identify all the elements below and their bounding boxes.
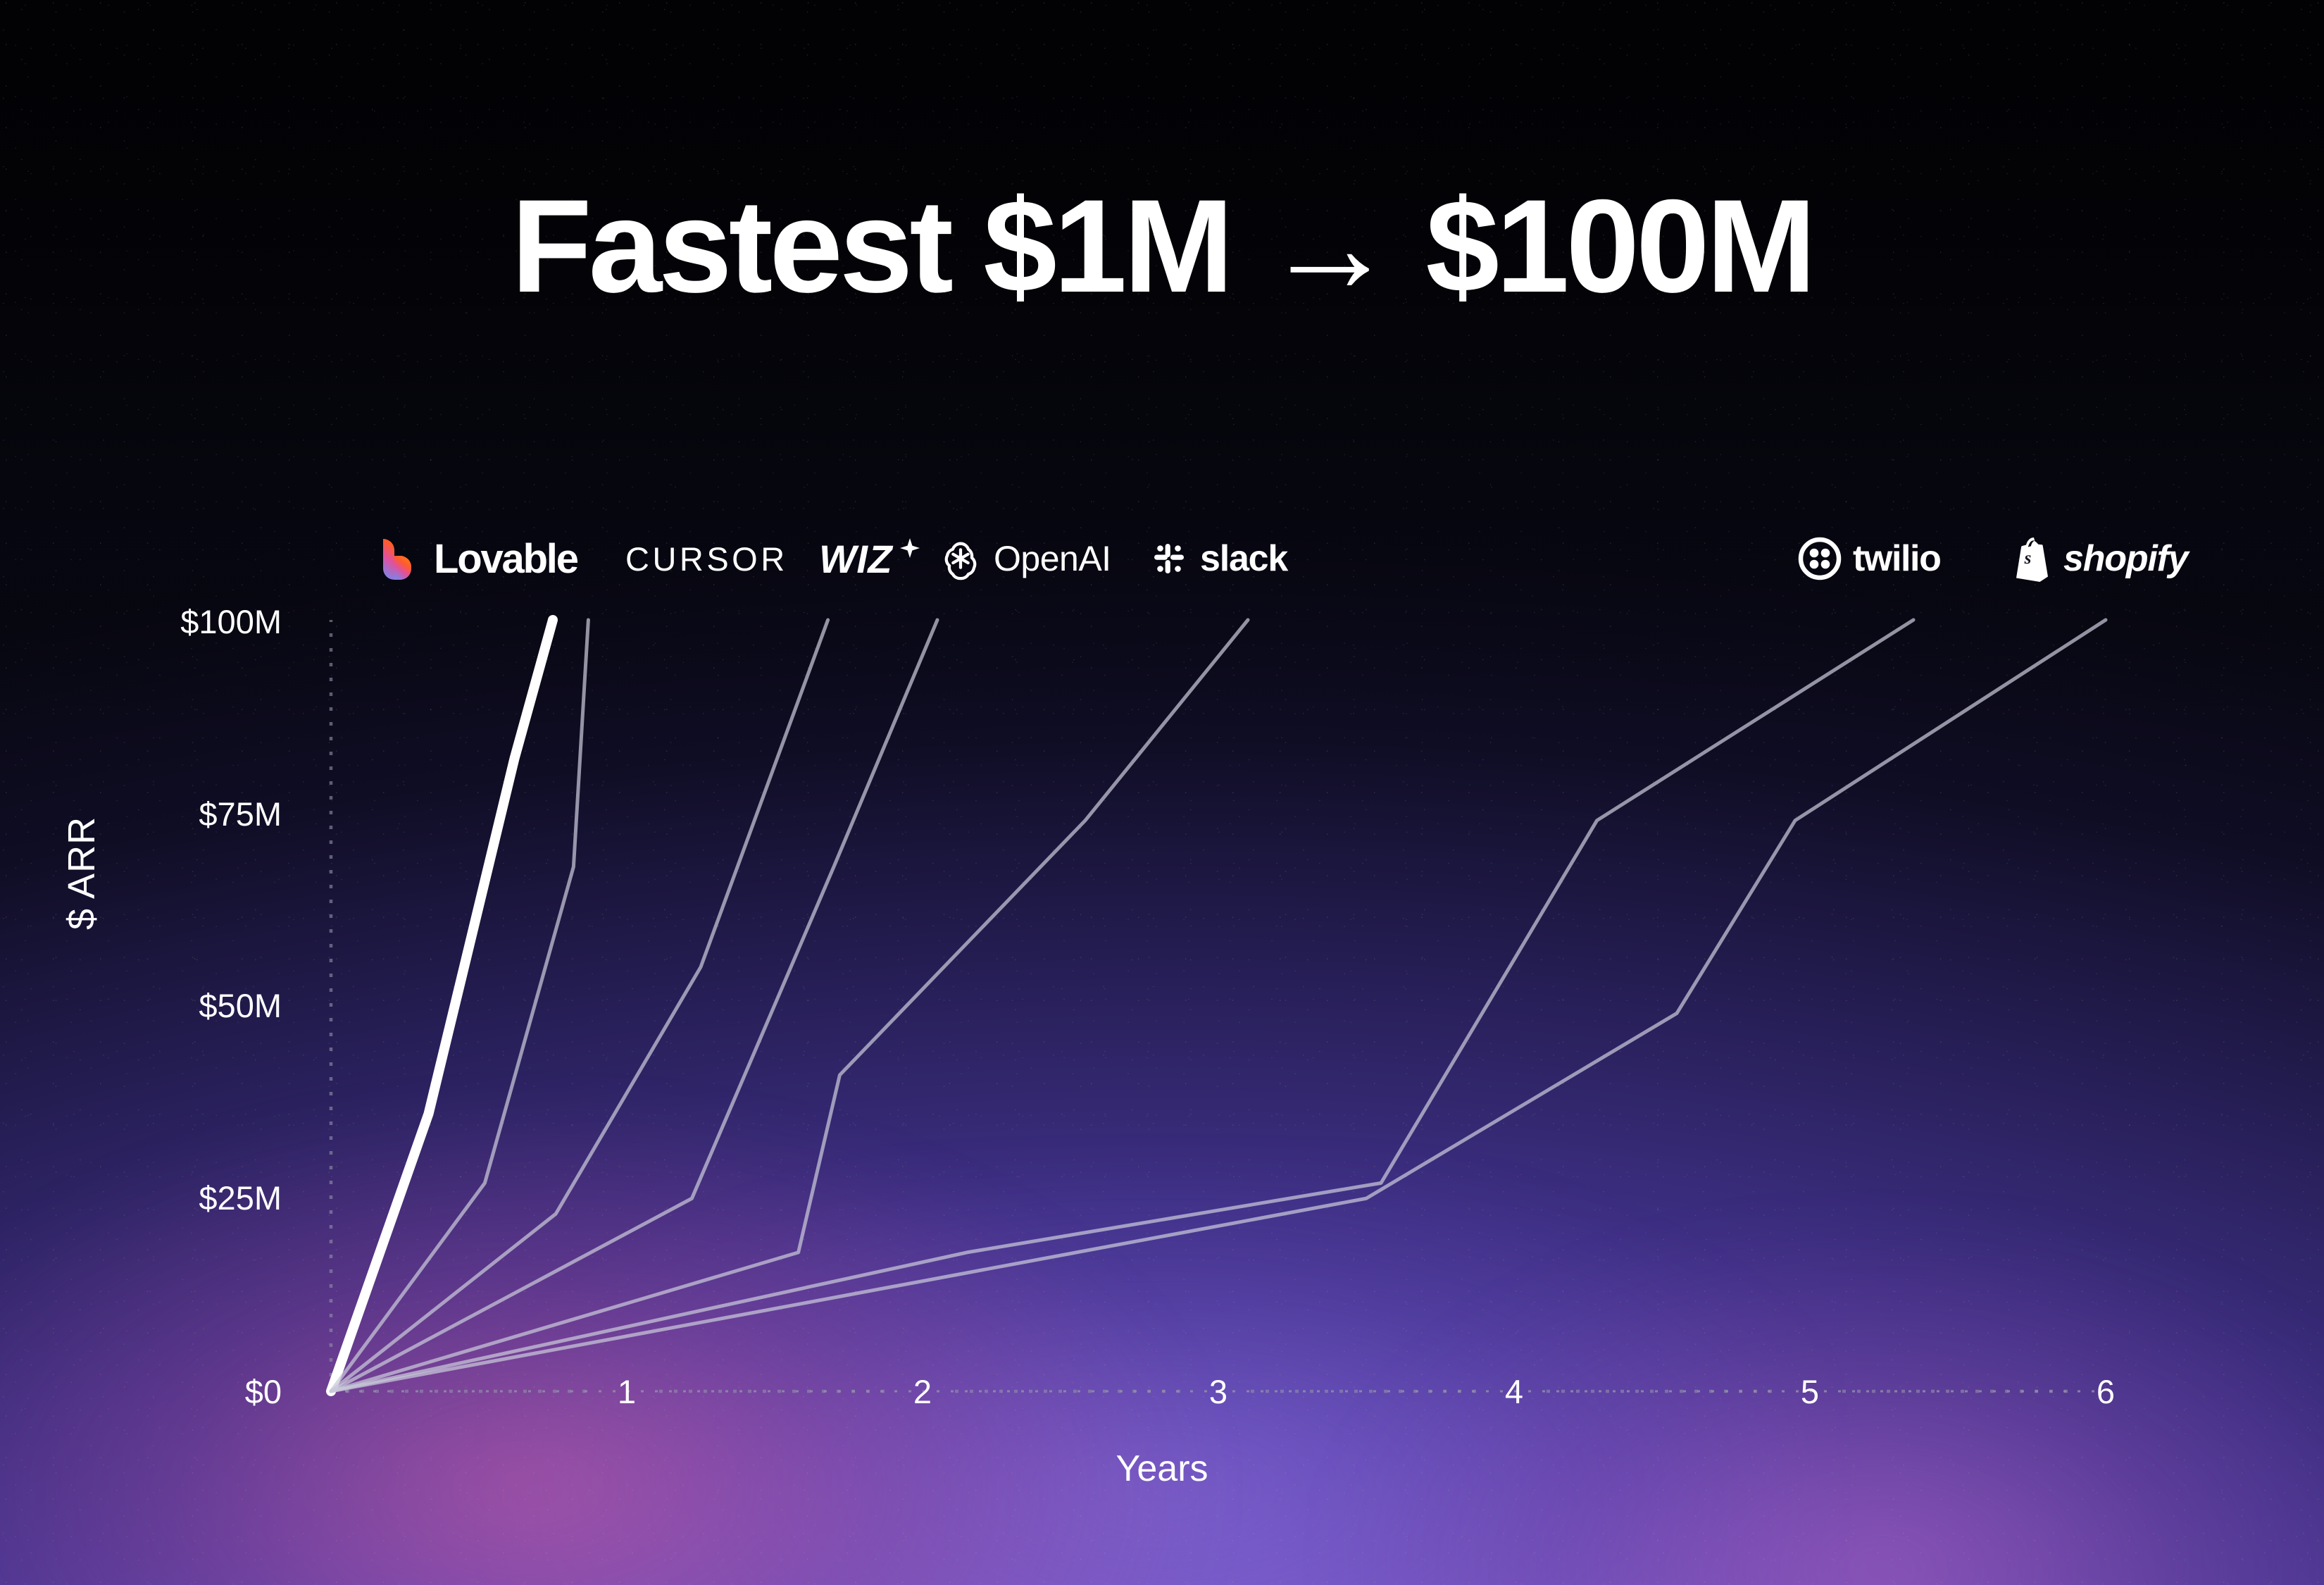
x-tick-1: 1 — [585, 1372, 669, 1411]
y-tick-50m: $50M — [120, 986, 282, 1025]
gridlines — [331, 620, 2106, 1391]
x-tick-6: 6 — [2063, 1372, 2148, 1411]
series-line-slack — [331, 620, 1248, 1391]
y-tick-100m: $100M — [120, 602, 282, 641]
x-tick-3: 3 — [1176, 1372, 1261, 1411]
x-tick-5: 5 — [1768, 1372, 1852, 1411]
y-tick-0: $0 — [120, 1372, 282, 1411]
y-axis-title: $ ARR — [60, 816, 104, 930]
y-tick-25m: $25M — [120, 1179, 282, 1217]
chart-plot-area: $100M $75M $50M $25M $0 1 2 3 4 5 6 $ AR… — [0, 0, 2324, 1585]
series-line-openai — [331, 620, 937, 1391]
x-tick-2: 2 — [880, 1372, 965, 1411]
series-line-lovable — [331, 620, 553, 1391]
x-axis-title: Years — [0, 1448, 2324, 1490]
x-tick-4: 4 — [1472, 1372, 1556, 1411]
y-tick-75m: $75M — [120, 795, 282, 833]
line-chart-svg — [0, 0, 2324, 1585]
series-line-wiz — [331, 620, 828, 1391]
